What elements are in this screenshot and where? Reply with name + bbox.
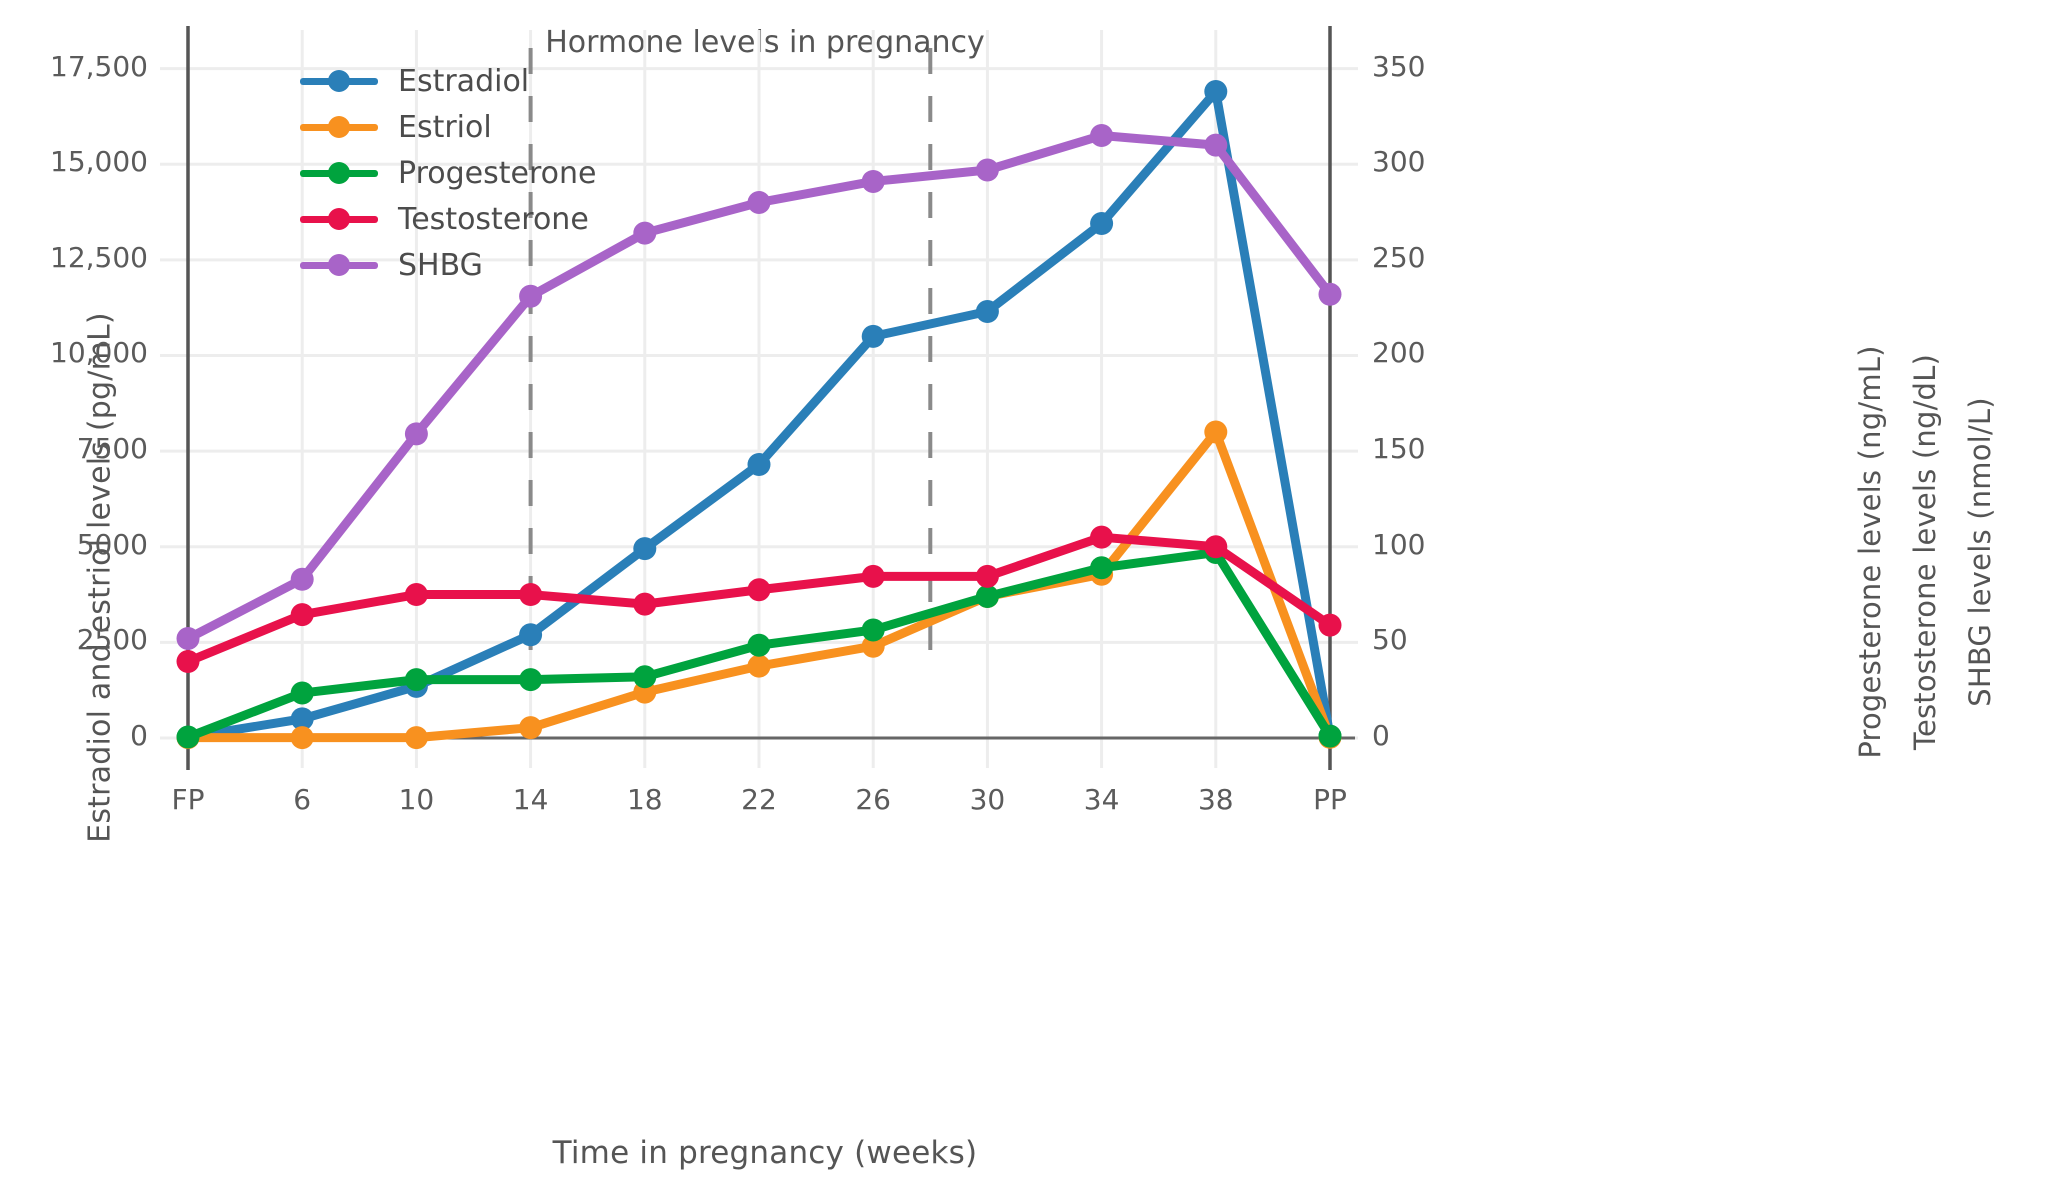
- chart-container: Hormone levels in pregnancy Estradiol an…: [0, 0, 2048, 1196]
- x-tick: 22: [699, 783, 819, 816]
- y-tick-left: 5000: [0, 528, 148, 561]
- chart-legend: EstradiolEstriolProgesteroneTestosterone…: [300, 58, 596, 288]
- y-tick-left: 15,000: [0, 145, 148, 178]
- x-tick: PP: [1270, 783, 1390, 816]
- x-tick: 10: [356, 783, 476, 816]
- x-tick: FP: [128, 783, 248, 816]
- legend-marker-icon: [328, 162, 350, 184]
- y-tick-right: 0: [1372, 719, 1390, 752]
- legend-marker-icon: [328, 254, 350, 276]
- y-tick-right: 250: [1372, 241, 1425, 274]
- legend-marker-icon: [328, 70, 350, 92]
- legend-line-icon: [300, 78, 378, 85]
- x-tick: 34: [1042, 783, 1162, 816]
- y-tick-right: 200: [1372, 336, 1425, 369]
- y-tick-left: 2500: [0, 623, 148, 656]
- legend-line-icon: [300, 170, 378, 177]
- y-tick-right: 150: [1372, 432, 1425, 465]
- legend-item-shbg[interactable]: SHBG: [300, 242, 596, 288]
- x-tick: 14: [471, 783, 591, 816]
- x-tick: 6: [242, 783, 362, 816]
- legend-marker-icon: [328, 208, 350, 230]
- x-tick: 26: [813, 783, 933, 816]
- legend-label: Testosterone: [398, 202, 589, 237]
- legend-item-estriol[interactable]: Estriol: [300, 104, 596, 150]
- legend-label: Estriol: [398, 110, 492, 145]
- y-tick-left: 7500: [0, 432, 148, 465]
- legend-label: Progesterone: [398, 156, 596, 191]
- legend-item-progesterone[interactable]: Progesterone: [300, 150, 596, 196]
- legend-item-estradiol[interactable]: Estradiol: [300, 58, 596, 104]
- legend-line-icon: [300, 124, 378, 131]
- legend-item-testosterone[interactable]: Testosterone: [300, 196, 596, 242]
- y-tick-right: 50: [1372, 623, 1408, 656]
- x-tick: 18: [585, 783, 705, 816]
- y-tick-left: 10,000: [0, 336, 148, 369]
- legend-label: SHBG: [398, 248, 483, 283]
- y-tick-right: 100: [1372, 528, 1425, 561]
- legend-line-icon: [300, 216, 378, 223]
- x-tick: 30: [927, 783, 1047, 816]
- y-tick-right: 300: [1372, 145, 1425, 178]
- y-tick-left: 12,500: [0, 241, 148, 274]
- y-tick-left: 17,500: [0, 50, 148, 83]
- y-tick-left: 0: [0, 719, 148, 752]
- y-tick-right: 350: [1372, 50, 1425, 83]
- legend-label: Estradiol: [398, 64, 529, 99]
- legend-marker-icon: [328, 116, 350, 138]
- legend-line-icon: [300, 262, 378, 269]
- x-tick: 38: [1156, 783, 1276, 816]
